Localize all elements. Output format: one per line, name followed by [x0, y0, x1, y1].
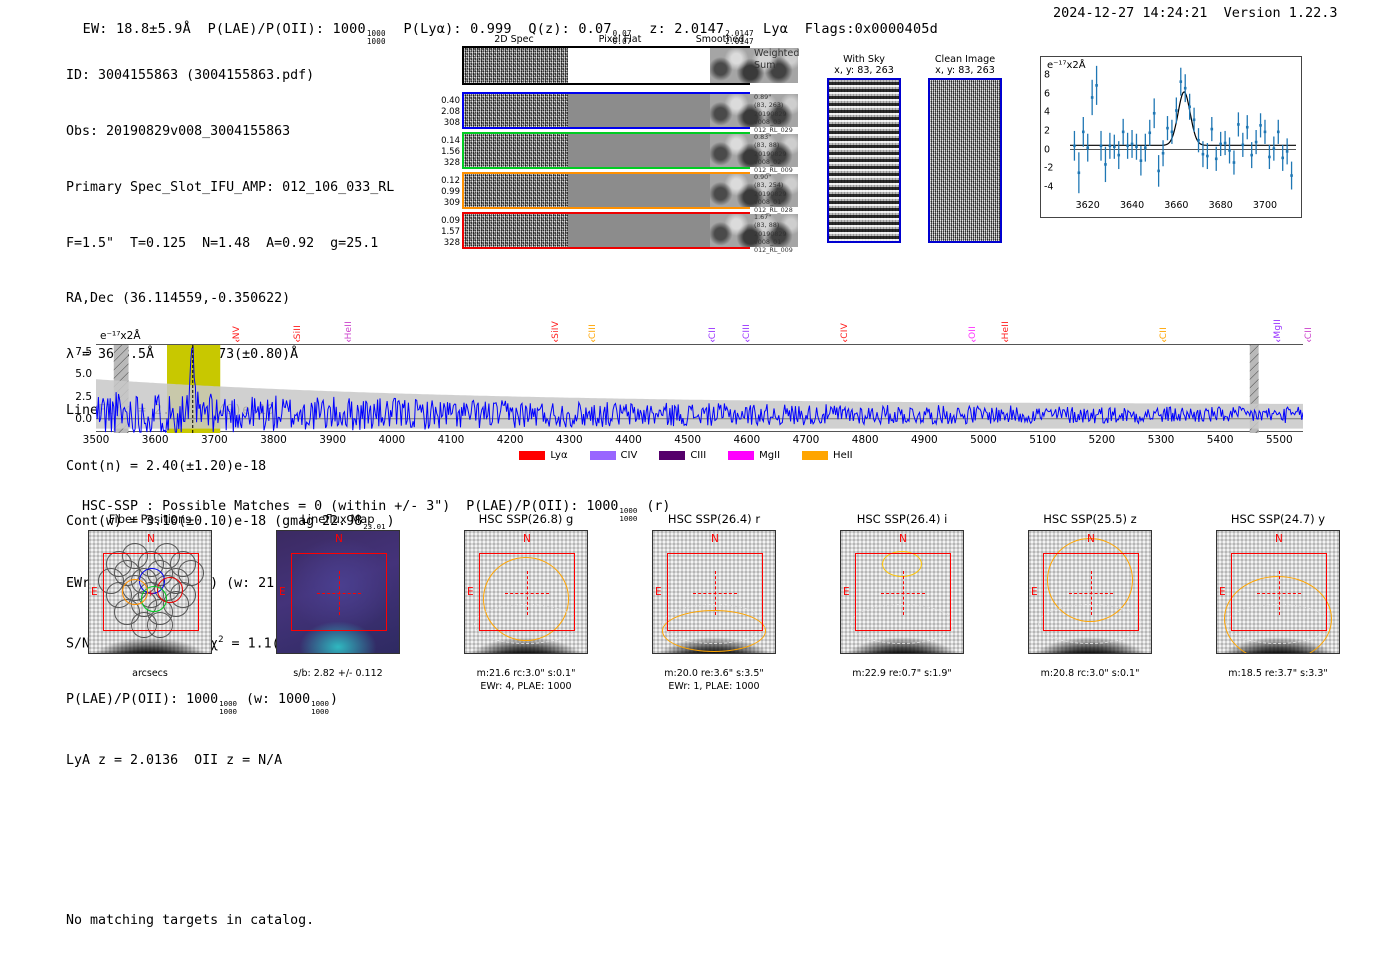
spec2d-weighted-sum-label: Weighted Sum [754, 48, 812, 71]
fullspec-flux-annotation: e⁻¹⁷x2Å [100, 330, 141, 342]
spec2d-row-meta: 1.67"(83, 88)20190829v008_01012_RL_009 [754, 213, 812, 254]
header-timestamp-version: 2024-12-27 14:24:21 Version 1.22.3 [1053, 5, 1337, 21]
legend-label: Lyα [550, 450, 567, 461]
east-label: E [655, 586, 662, 598]
panel-image[interactable]: NE420-2-4-4-2024 [276, 530, 400, 654]
imaging-panel[interactable]: HSC SSP(26.4) iNE420-2-4-4-2024m:22.9 re… [808, 512, 996, 681]
panel-caption-line-2: EWr: 4, PLAE: 1000 [432, 681, 620, 694]
north-label: N [711, 533, 719, 545]
legend-label: CIII [690, 450, 706, 461]
fullspec-canvas [96, 345, 1303, 433]
north-label: N [523, 533, 531, 545]
legend-swatch [590, 451, 616, 460]
north-label: N [147, 533, 155, 545]
info-id: ID: 3004155863 (3004155863.pdf) [66, 67, 395, 86]
fullspec-ytick: 2.5 [75, 391, 92, 403]
legend-swatch [802, 451, 828, 460]
spectrum-line-bracket: ⌄ [552, 334, 560, 345]
panel-title: HSC SSP(24.7) y [1184, 512, 1372, 530]
fullspec-xtick: 4100 [438, 434, 465, 446]
info-seeing-params: F=1.5" T=0.125 N=1.48 A=0.92 g=25.1 [66, 235, 395, 254]
panel-image[interactable]: NE420-2-4-4-2024 [652, 530, 776, 654]
fullspec-ytick: 7.5 [75, 346, 92, 358]
spec2d-fiber-row[interactable] [462, 172, 750, 209]
panel-caption-line-2: EWr: 1, PLAE: 1000 [620, 681, 808, 694]
info-obs: Obs: 20190829v008_3004155863 [66, 123, 395, 142]
lineplot-xtick: 3620 [1076, 200, 1100, 211]
full-spectrum-chart[interactable]: e⁻¹⁷x2Å 0.02.55.07.5 3500360037003800390… [66, 318, 1306, 463]
imaging-panel[interactable]: HSC SSP(26.8) gNE420-2-4-4-2024m:21.6 rc… [432, 512, 620, 693]
panel-image[interactable]: NE420-2-4-4-2024 [464, 530, 588, 654]
fullspec-xtick: 4200 [497, 434, 524, 446]
spec2d-fiber-row[interactable] [462, 212, 750, 249]
panel-image[interactable]: NE420-2-4-4-2024 [1028, 530, 1152, 654]
panel-caption: m:20.8 rc:3.0" s:0.1" [996, 668, 1184, 681]
spec2d-row-meta: 0.89"(83, 263)20190829v008_03012_RL_029 [754, 93, 812, 134]
spec2d-col-title-pixelflat: Pixel Flat [570, 34, 670, 45]
panel-title: HSC SSP(26.4) i [808, 512, 996, 530]
cutout-with-sky-image[interactable] [827, 78, 901, 243]
panel-caption: m:21.6 rc:3.0" s:0.1"EWr: 4, PLAE: 1000 [432, 668, 620, 693]
north-label: N [1087, 533, 1095, 545]
spec2d-weighted-sum-row [462, 46, 750, 85]
lineplot-xtick: 3700 [1253, 200, 1277, 211]
header-flags: Flags:0x0000405d [805, 21, 938, 37]
full-spectrum-plot-area[interactable]: e⁻¹⁷x2Å 0.02.55.07.5 3500360037003800390… [96, 344, 1303, 432]
legend-swatch [728, 451, 754, 460]
panel-caption: arcsecs [56, 668, 244, 681]
spec2d-row-meta: 0.83"(83, 88)20190829v008_02012_RL_009 [754, 133, 812, 174]
fullspec-xtick: 5200 [1088, 434, 1115, 446]
legend-item: CIII [659, 450, 706, 461]
spectrum-line-bracket: ⌄ [743, 334, 751, 345]
spectrum-line-bracket: ⌄ [709, 334, 717, 345]
fullspec-xtick: 5500 [1266, 434, 1293, 446]
legend-label: HeII [833, 450, 853, 461]
spectrum-line-bracket: ⌄ [841, 334, 849, 345]
east-label: E [843, 586, 850, 598]
spec2d-col-title-2dspec: 2D Spec [462, 34, 566, 45]
fullspec-ytick: 5.0 [75, 368, 92, 380]
fullspec-xtick: 5400 [1207, 434, 1234, 446]
east-label: E [279, 586, 286, 598]
imaging-panel[interactable]: HSC SSP(24.7) yNE420-2-4-4-2024m:18.5 re… [1184, 512, 1372, 681]
fullspec-xtick: 3500 [83, 434, 110, 446]
panel-caption: s/b: 2.82 +/- 0.112 [244, 668, 432, 681]
spectrum-line-bracket: ⌄ [1305, 334, 1313, 345]
east-label: E [1219, 586, 1226, 598]
legend-item: Lyα [519, 450, 567, 461]
panel-title: HSC SSP(26.8) g [432, 512, 620, 530]
east-label: E [1031, 586, 1038, 598]
info-primary-spec: Primary Spec_Slot_IFU_AMP: 012_106_033_R… [66, 179, 395, 198]
panel-caption-line-1: m:20.8 rc:3.0" s:0.1" [996, 668, 1184, 681]
imaging-panel[interactable]: HSC SSP(26.4) rNE420-2-4-4-2024m:20.0 re… [620, 512, 808, 693]
panel-caption-line-1: s/b: 2.82 +/- 0.112 [244, 668, 432, 681]
fullspec-xtick: 5100 [1029, 434, 1056, 446]
spectrum-line-bracket: ⌄ [233, 334, 241, 345]
fullspec-xtick: 4600 [733, 434, 760, 446]
footer-line-1: No matching targets in catalog. [66, 911, 314, 930]
fullspec-ytick: 0.0 [75, 413, 92, 425]
fullspec-xtick: 4900 [911, 434, 938, 446]
spec2d-row-meta: 0.90"(83, 254)20190829v008_01012_RL_028 [754, 173, 812, 214]
fullspec-xtick: 4800 [852, 434, 879, 446]
north-label: N [335, 533, 343, 545]
lineplot-xtick: 3640 [1120, 200, 1144, 211]
panel-caption: m:20.0 re:3.6" s:3.5"EWr: 1, PLAE: 1000 [620, 668, 808, 693]
fullspec-xtick: 4500 [674, 434, 701, 446]
north-label: N [1275, 533, 1283, 545]
info-radec: RA,Dec (36.114559,-0.350622) [66, 290, 395, 309]
legend-item: MgII [728, 450, 780, 461]
cutout-clean-image[interactable]: Clean Image x, y: 83, 263 [928, 54, 1002, 243]
lineplot-xtick: 3680 [1209, 200, 1233, 211]
lineplot-ytick: -2 [1044, 163, 1053, 174]
lineplot-ytick: 4 [1044, 107, 1050, 118]
panel-title: HSC SSP(26.4) r [620, 512, 808, 530]
fullspec-xtick: 4700 [793, 434, 820, 446]
spectrum-line-bracket: ⌄ [345, 334, 353, 345]
panel-caption-line-1: arcsecs [56, 668, 244, 681]
spectrum-line-bracket: ⌄ [969, 334, 977, 345]
fullspec-xtick: 4300 [556, 434, 583, 446]
panel-caption-line-1: m:18.5 re:3.7" s:3.3" [1184, 668, 1372, 681]
panel-caption-line-1: m:21.6 rc:3.0" s:0.1" [432, 668, 620, 681]
fullspec-xtick: 4000 [378, 434, 405, 446]
spec2d-montage: 2D Spec Pixel Flat Smoothed Weighted Sum… [420, 34, 810, 249]
fullspec-xtick: 5000 [970, 434, 997, 446]
lineplot-ytick: 6 [1044, 88, 1050, 99]
lineplot-ytick: 8 [1044, 70, 1050, 81]
imaging-panel[interactable]: Fiber Positions+NE420-2-4-4-2024arcsecs [56, 512, 244, 681]
cutout-with-sky[interactable]: With Sky x, y: 83, 263 [827, 54, 901, 243]
fullspec-xtick: 4400 [615, 434, 642, 446]
spec2d-row-left-values: 0.091.57328 [422, 216, 460, 249]
spectrum-line-bracket: ⌄ [1274, 334, 1282, 345]
east-label: E [467, 586, 474, 598]
panel-title: Lineflux Map [244, 512, 432, 530]
fullspec-xtick: 5300 [1148, 434, 1175, 446]
info-redshifts: LyA z = 2.0136 OII z = N/A [66, 752, 395, 771]
cutout-with-sky-title: With Sky x, y: 83, 263 [827, 54, 901, 76]
spectrum-line-bracket: ⌄ [1002, 334, 1010, 345]
fullspec-xtick: 3700 [201, 434, 228, 446]
spectrum-line-bracket: ⌄ [1160, 334, 1168, 345]
imaging-panel[interactable]: Lineflux MapNE420-2-4-4-2024s/b: 2.82 +/… [244, 512, 432, 681]
lineplot-ytick: -4 [1044, 181, 1053, 192]
imaging-panel[interactable]: HSC SSP(25.5) zNE420-2-4-4-2024m:20.8 rc… [996, 512, 1184, 681]
spec2d-row-left-values: 0.141.56328 [422, 136, 460, 169]
legend-label: MgII [759, 450, 780, 461]
cutout-clean-image-title: Clean Image x, y: 83, 263 [928, 54, 1002, 76]
panel-caption-line-1: m:20.0 re:3.6" s:3.5" [620, 668, 808, 681]
fullspec-xtick: 3600 [142, 434, 169, 446]
spectrum-legend: LyαCIVCIIIMgIIHeII [66, 450, 1306, 461]
panel-caption: m:22.9 re:0.7" s:1.9" [808, 668, 996, 681]
spec2d-row-left-values: 0.402.08308 [422, 96, 460, 129]
panel-caption-line-1: m:22.9 re:0.7" s:1.9" [808, 668, 996, 681]
spectrum-line-bracket: ⌄ [589, 334, 597, 345]
legend-swatch [519, 451, 545, 460]
spec2d-row-left-values: 0.120.99309 [422, 176, 460, 209]
imaging-panel-row: Fiber Positions+NE420-2-4-4-2024arcsecsL… [56, 512, 1376, 727]
legend-item: CIV [590, 450, 638, 461]
panel-image[interactable]: NE420-2-4-4-2024 [1216, 530, 1340, 654]
lineplot-ytick: 2 [1044, 125, 1050, 136]
east-label: E [91, 586, 98, 598]
cutout-clean-image-image[interactable] [928, 78, 1002, 243]
spec2d-fiber-row[interactable] [462, 92, 750, 129]
legend-item: HeII [802, 450, 853, 461]
fullspec-xtick: 3900 [319, 434, 346, 446]
fullspec-xtick: 3800 [260, 434, 287, 446]
lineplot-ytick: 0 [1044, 144, 1050, 155]
lineplot-canvas [1040, 56, 1302, 218]
panel-caption: m:18.5 re:3.7" s:3.3" [1184, 668, 1372, 681]
panel-title: HSC SSP(25.5) z [996, 512, 1184, 530]
spec2d-col-title-smoothed: Smoothed [672, 34, 768, 45]
panel-image[interactable]: NE420-2-4-4-2024 [840, 530, 964, 654]
footer-note: No matching targets in catalog. Row inte… [66, 873, 314, 953]
legend-swatch [659, 451, 685, 460]
lineplot-xtick: 3660 [1164, 200, 1188, 211]
spectrum-line-bracket: ⌄ [294, 334, 302, 345]
north-label: N [899, 533, 907, 545]
panel-image[interactable]: +NE420-2-4-4-2024 [88, 530, 212, 654]
spec2d-fiber-row[interactable] [462, 132, 750, 169]
legend-label: CIV [621, 450, 638, 461]
panel-title: Fiber Positions [56, 512, 244, 530]
emission-line-fit-chart[interactable]: e⁻¹⁷x2Å -4-20246836203640366036803700 [1040, 56, 1302, 218]
